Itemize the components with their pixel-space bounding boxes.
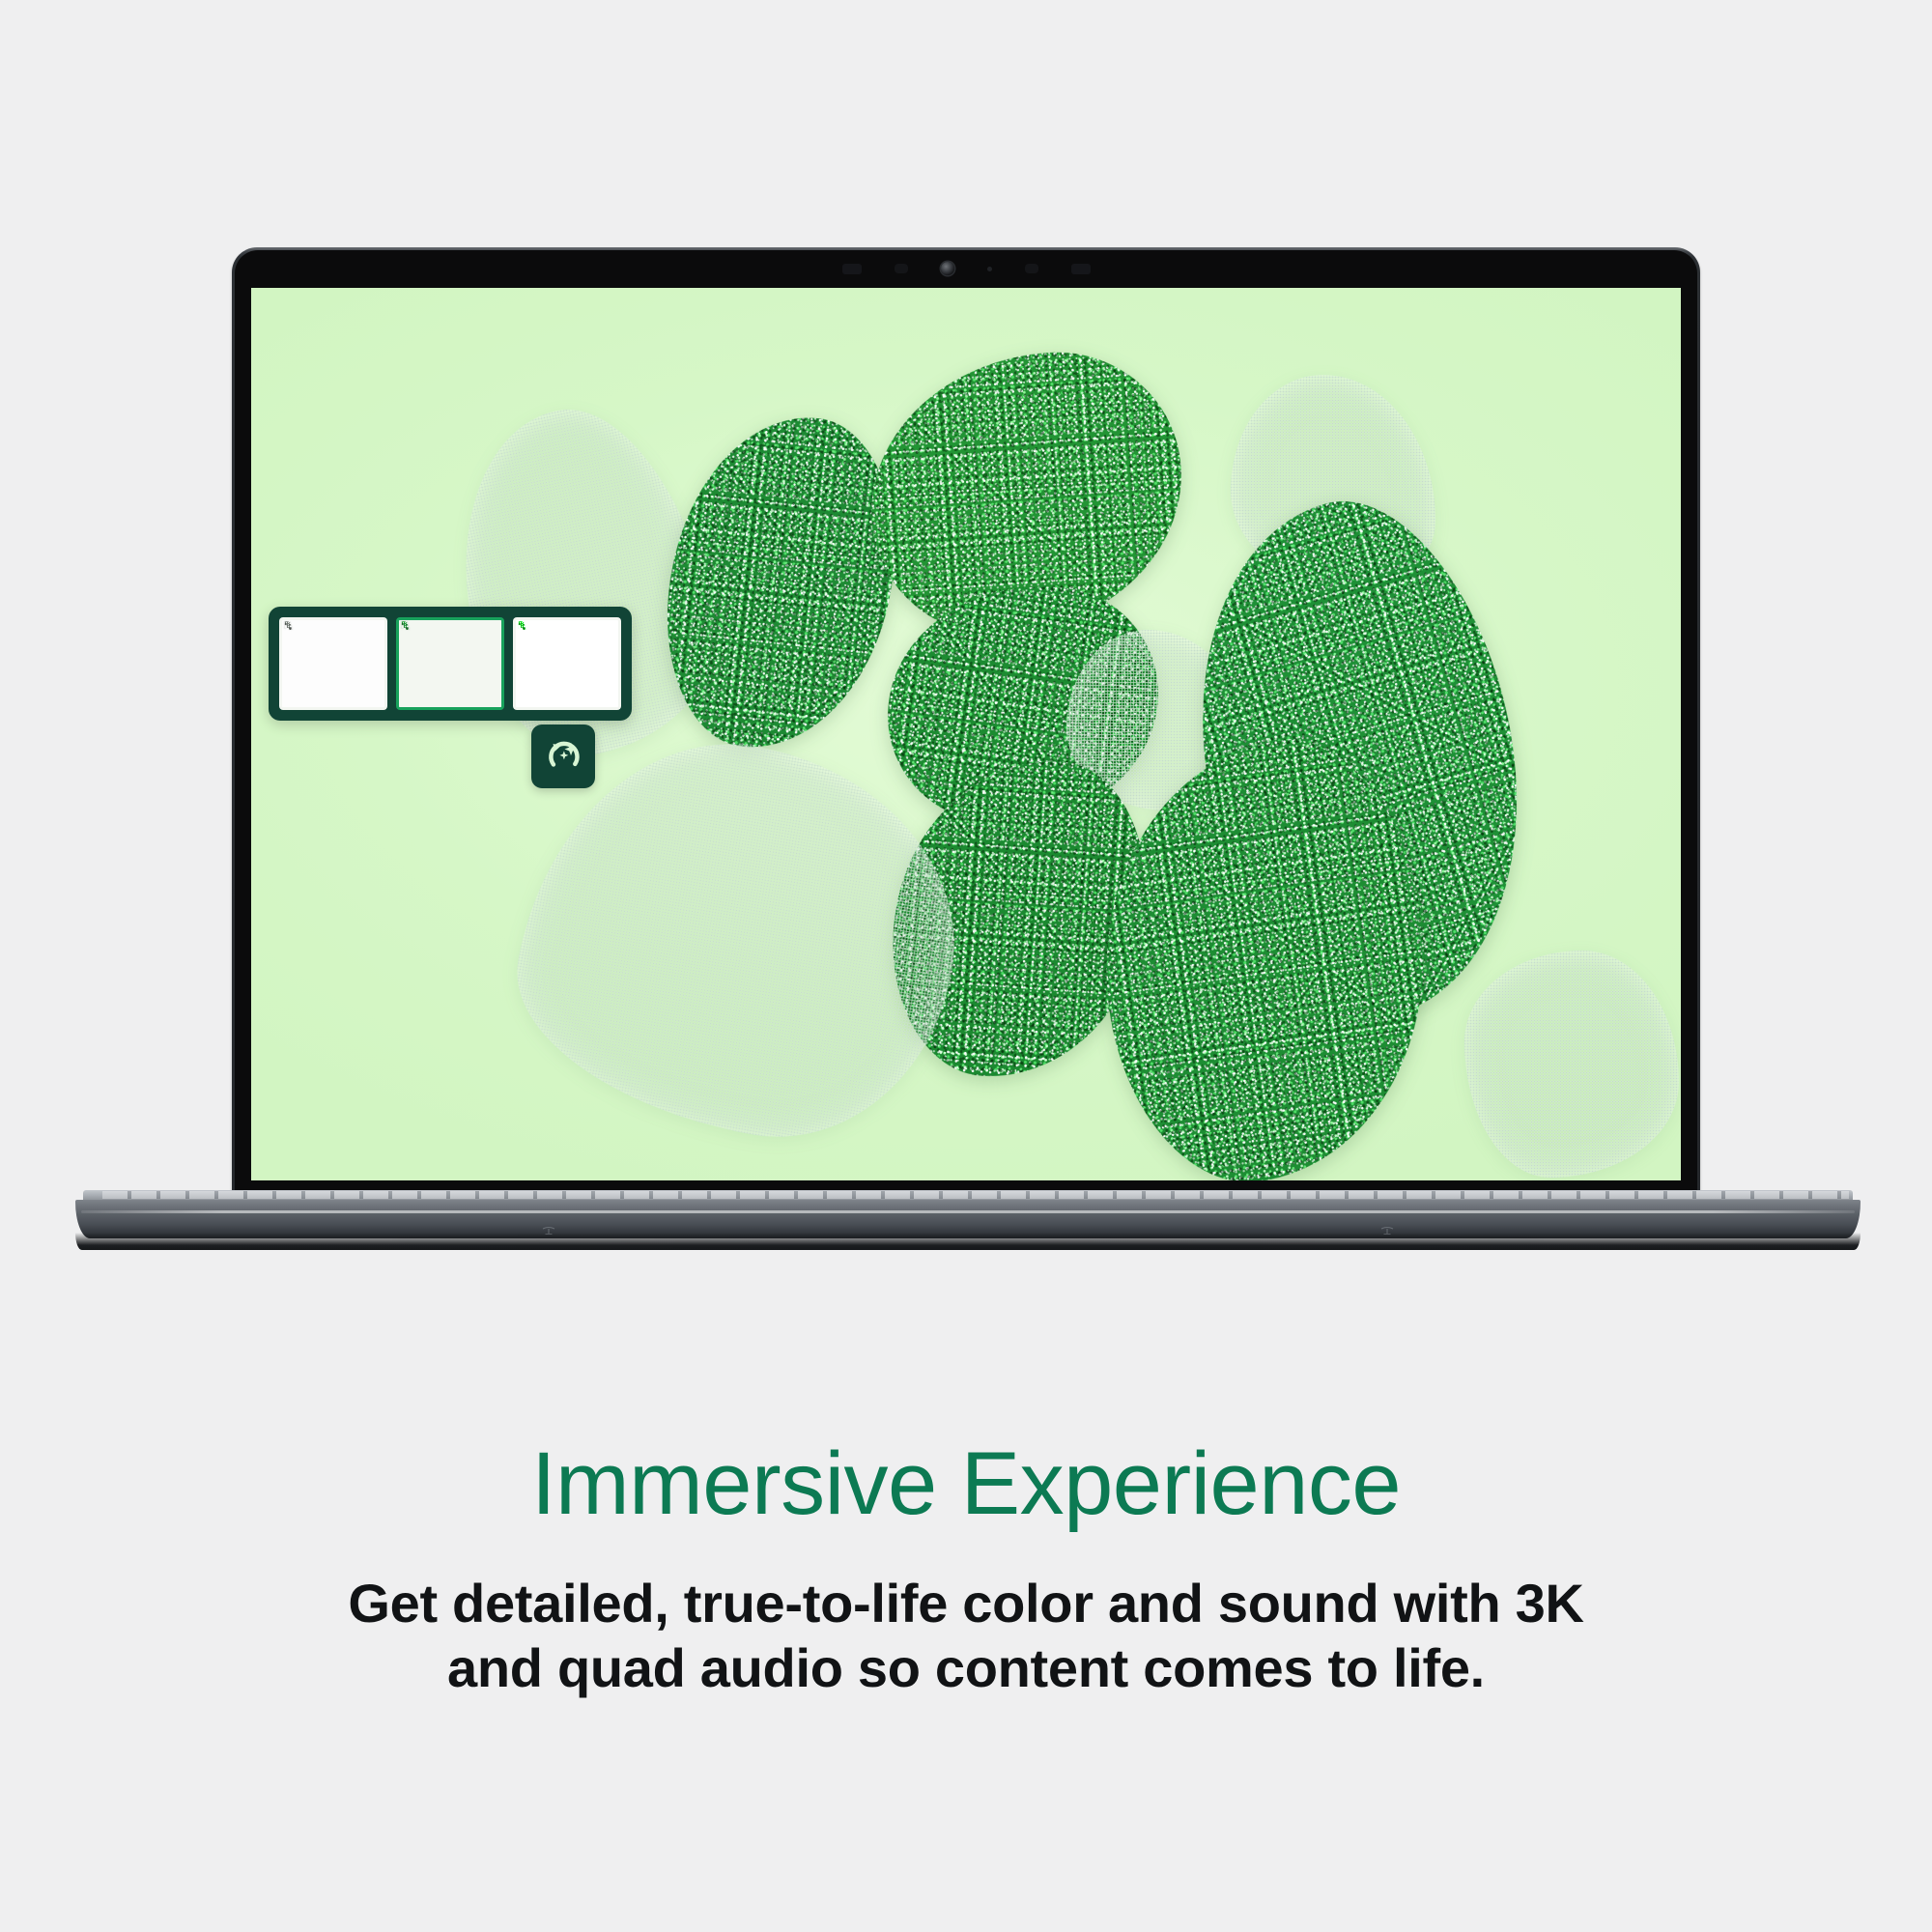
subcopy-line-1: Get detailed, true-to-life color and sou… bbox=[0, 1571, 1932, 1635]
caption-block: Immersive Experience Get detailed, true-… bbox=[0, 1439, 1932, 1700]
ir-emitter-icon bbox=[1071, 264, 1091, 274]
thumbnail-style-vivid[interactable] bbox=[513, 617, 621, 710]
speckle-stone-a bbox=[654, 405, 909, 760]
status-led-icon bbox=[987, 267, 992, 271]
proximity-sensor-icon bbox=[895, 264, 908, 273]
laptop-screen[interactable] bbox=[251, 288, 1681, 1180]
ir-sensor-icon bbox=[842, 264, 862, 274]
page-subcopy: Get detailed, true-to-life color and sou… bbox=[0, 1571, 1932, 1700]
base-highlight bbox=[81, 1210, 1855, 1213]
poster-stage: Immersive Experience Get detailed, true-… bbox=[0, 0, 1932, 1932]
wallpaper-blobs bbox=[251, 288, 1681, 1180]
thumbnail-style-desaturated[interactable] bbox=[279, 617, 387, 710]
ai-refresh-sparkle-icon bbox=[543, 736, 583, 777]
laptop-lid bbox=[232, 247, 1700, 1199]
ambient-light-sensor-icon bbox=[1025, 264, 1038, 273]
webcam-strip bbox=[235, 250, 1697, 287]
laptop-device bbox=[0, 0, 1932, 1285]
webcam-lens-icon bbox=[941, 262, 954, 275]
laptop-base bbox=[75, 1190, 1861, 1242]
ai-enhance-button[interactable] bbox=[531, 724, 595, 788]
mesh-sphere-bottomright bbox=[1464, 951, 1679, 1178]
laptop-bezel bbox=[235, 250, 1697, 1199]
page-title: Immersive Experience bbox=[0, 1439, 1932, 1528]
keyboard-keys bbox=[102, 1191, 1849, 1199]
image-style-picker[interactable] bbox=[269, 607, 632, 721]
device-drop-shadow bbox=[116, 1239, 1820, 1253]
subcopy-line-2: and quad audio so content comes to life. bbox=[0, 1635, 1932, 1700]
thumbnail-style-natural[interactable] bbox=[396, 617, 504, 710]
base-chassis bbox=[75, 1200, 1861, 1238]
